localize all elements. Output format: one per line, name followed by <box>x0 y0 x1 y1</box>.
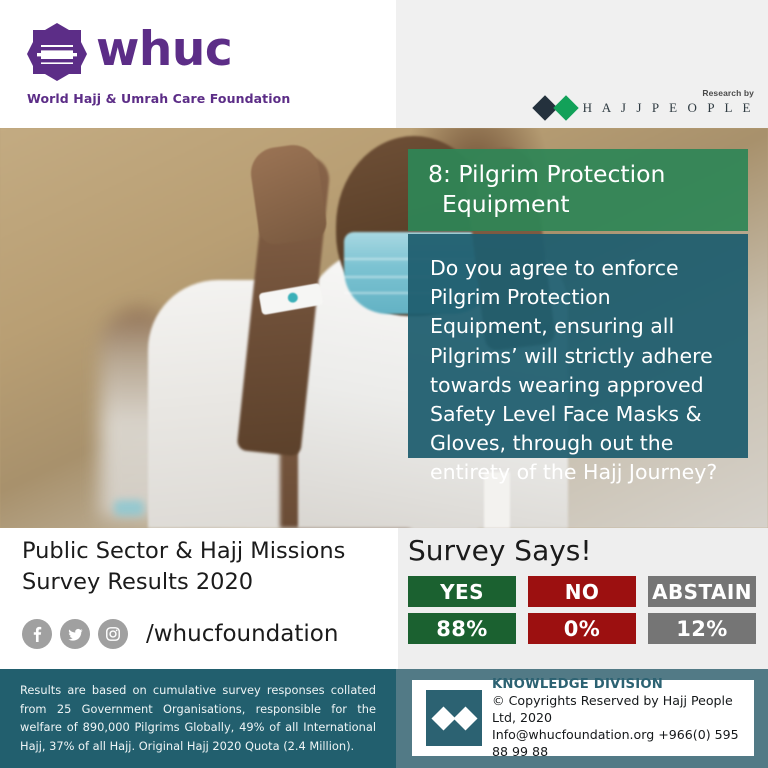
contact-line[interactable]: Info@whucfoundation.org +966(0) 595 88 9… <box>492 726 746 760</box>
question-topic-banner: 8: Pilgrim Protection Equipment <box>408 149 748 231</box>
research-by-label: Research by <box>702 88 754 98</box>
results-title-line2: Survey Results 2020 <box>22 569 253 595</box>
results-title-line1: Public Sector & Hajj Missions <box>22 538 345 564</box>
question-body: Do you agree to enforce Pilgrim Protecti… <box>408 234 748 458</box>
survey-option-label-abstain: ABSTAIN <box>648 576 756 607</box>
survey-heading: Survey Says! <box>408 534 592 567</box>
survey-option-value-abstain: 12% <box>648 613 756 644</box>
whuc-logo: whuc <box>26 22 232 86</box>
results-title: Public Sector & Hajj Missions Survey Res… <box>22 536 392 598</box>
twitter-icon[interactable] <box>60 619 90 649</box>
header-right-panel: Hajj Under Pandemic Conditions Research … <box>396 0 768 128</box>
hajj-people-wordmark: H A J J P E O P L E <box>583 100 754 116</box>
survey-option-value-yes: 88% <box>408 613 516 644</box>
survey-results-grid: YES NO ABSTAIN 88% 0% 12% <box>408 576 756 644</box>
whuc-wordmark: whuc <box>96 22 232 78</box>
header-left-panel: whuc World Hajj & Umrah Care Foundation <box>0 0 396 128</box>
poster-root: whuc World Hajj & Umrah Care Foundation … <box>0 0 768 768</box>
hajj-people-logo: H A J J P E O P L E <box>536 99 754 117</box>
knowledge-division-text: KNOWLEDGE DIVISION © Copyrights Reserved… <box>492 677 746 760</box>
survey-option-value-no: 0% <box>528 613 636 644</box>
copyright-line: © Copyrights Reserved by Hajj People Ltd… <box>492 692 746 726</box>
photo-background-mask <box>114 500 144 516</box>
whuc-octagon-mosque-icon <box>26 22 88 86</box>
knowledge-division-card: KNOWLEDGE DIVISION © Copyrights Reserved… <box>412 680 754 756</box>
question-topic-line1: 8: Pilgrim Protection <box>428 160 665 188</box>
footer-methodology-note: Results are based on cumulative survey r… <box>20 681 376 755</box>
question-topic-line2: Equipment <box>428 189 734 219</box>
survey-option-label-yes: YES <box>408 576 516 607</box>
survey-option-label-no: NO <box>528 576 636 607</box>
social-handle[interactable]: /whucfoundation <box>146 621 338 647</box>
knowledge-division-heading: KNOWLEDGE DIVISION <box>492 677 746 692</box>
knowledge-division-double-diamond-icon <box>426 690 482 746</box>
whuc-tagline: World Hajj & Umrah Care Foundation <box>27 91 290 106</box>
instagram-icon[interactable] <box>98 619 128 649</box>
facebook-icon[interactable] <box>22 619 52 649</box>
diamond-green-icon <box>553 95 578 120</box>
social-links: /whucfoundation <box>22 619 338 649</box>
